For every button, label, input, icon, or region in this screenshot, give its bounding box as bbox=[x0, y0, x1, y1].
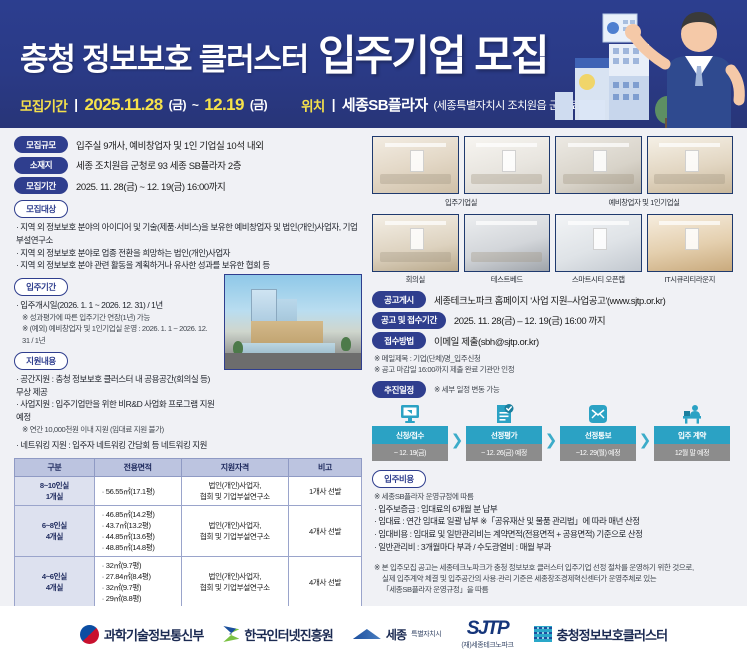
fees-line-1: · 입주보증금 : 임대료의 6개월 분 납부 bbox=[372, 503, 733, 516]
info-row-scale: 모집규모 입주실 9개사, 예비창업자 및 1인 기업실 10석 내외 bbox=[14, 136, 362, 153]
sejong-city-logo: 세종 특별자치시 bbox=[353, 626, 441, 643]
building-road bbox=[225, 353, 361, 369]
caption-startup-office: 예비창업자 및 1인기업실 bbox=[555, 197, 733, 208]
pill-notice: 공고게시 bbox=[372, 291, 426, 308]
fees-head-note: ※ 세종SB플라자 운영규정에 따름 bbox=[372, 491, 733, 502]
receipt-note-1: ※ 메일제목 : 기업(단체)명_입주신청 bbox=[372, 353, 733, 364]
flow-date-notification: ~12. 29(월) 예정 bbox=[560, 444, 636, 461]
photo-testbed bbox=[464, 214, 551, 272]
photo-window bbox=[410, 150, 424, 172]
location-name: 세종SB플라자 bbox=[342, 94, 428, 115]
info-row-apply-period: 공고 및 접수기간 2025. 11. 28(금) – 12. 19(금) 16… bbox=[372, 312, 733, 329]
cell-category: 4~6인실4개실 bbox=[15, 557, 95, 608]
target-head: 모집대상 bbox=[14, 199, 362, 218]
support-head: 지원내용 bbox=[14, 351, 216, 370]
table-header-row: 구분 전용면적 지원자격 비고 bbox=[15, 459, 362, 477]
residency-head: 입주기간 bbox=[14, 277, 216, 296]
flow-title-contract: 입주 계약 bbox=[654, 426, 730, 444]
pill-apply-period: 공고 및 접수기간 bbox=[372, 312, 446, 329]
fees-block: 입주비용 ※ 세종SB플라자 운영규정에 따름 · 입주보증금 : 임대료의 6… bbox=[372, 469, 733, 553]
flow-arrow-2: ❯ bbox=[542, 431, 560, 461]
date-start-day: (금) bbox=[169, 96, 186, 113]
table-row: 8~10인실1개실 · 56.55㎡(17.1평) 법인(개인)사업자,협회 및… bbox=[15, 477, 362, 506]
caption-it-security-lounge: IT시큐리티라운지 bbox=[647, 274, 734, 285]
cell-area: · 46.85㎡(14.2평)· 43.7㎡(13.2평)· 44.85㎡(13… bbox=[94, 506, 181, 557]
header-illustration bbox=[517, 0, 747, 128]
cell-note: 4개사 선발 bbox=[289, 506, 362, 557]
support-line-3: · 네트워킹 지원 : 입주자 네트워킹 간담회 등 네트워킹 지원 bbox=[14, 439, 216, 452]
flow-step-notification: 선정통보 ~12. 29(월) 예정 bbox=[560, 402, 636, 461]
photo-window bbox=[593, 150, 607, 172]
schedule-head: 추진일정 ※ 세부 일정 변동 가능 bbox=[372, 381, 733, 398]
caption-meeting-room: 회의실 bbox=[372, 274, 459, 285]
fees-head: 입주비용 bbox=[372, 469, 733, 488]
mist-logo-text: 과학기술정보통신부 bbox=[104, 625, 204, 644]
sub-divider-1: | bbox=[74, 97, 77, 112]
photo-grid-row-1 bbox=[372, 136, 733, 194]
cluster-logo-text: 충청정보보호클러스터 bbox=[557, 625, 668, 644]
poster-footer: 과학기술정보통신부 한국인터넷진흥원 세종 특별자치시 SJTP (재)세종테크… bbox=[0, 606, 747, 662]
th-note: 비고 bbox=[289, 459, 362, 477]
title-light: 충청 정보보호 클러스터 bbox=[20, 34, 308, 79]
info-text-apply-method: 이메일 제출(sbh@sjtp.or.kr) bbox=[434, 334, 539, 348]
photo-ceiling bbox=[476, 143, 537, 147]
photo-ceiling bbox=[385, 221, 446, 225]
th-qualification: 지원자격 bbox=[181, 459, 289, 477]
sjtp-mark-icon: SJTP bbox=[467, 618, 509, 640]
residency-support-text: 입주기간 · 입주개시일(2026. 1. 1 ~ 2026. 12. 31) … bbox=[14, 272, 216, 452]
info-row-apply-method: 접수방법 이메일 제출(sbh@sjtp.or.kr) bbox=[372, 332, 733, 349]
mail-icon bbox=[560, 402, 636, 424]
pill-target: 모집대상 bbox=[14, 200, 68, 218]
poster-root: 충청 정보보호 클러스터 입주기업 모집 모집기간 | 2025.11.28 (… bbox=[0, 0, 747, 662]
fees-line-2: · 임대료 : 연간 임대료 일괄 납부 ※「공유재산 및 물품 관리법」에 따… bbox=[372, 515, 733, 528]
table-row: 6~8인실4개실 · 46.85㎡(14.2평)· 43.7㎡(13.2평)· … bbox=[15, 506, 362, 557]
flow-date-evaluation: ~ 12. 26(금) 예정 bbox=[466, 444, 542, 461]
pill-support: 지원내용 bbox=[14, 352, 68, 370]
flow-title-apply: 신청/접수 bbox=[372, 426, 448, 444]
pill-scale: 모집규모 bbox=[14, 136, 68, 153]
process-flow: 신청/접수 ~ 12. 19(금) ❯ bbox=[372, 402, 733, 461]
disclaimer-block: ※ 본 입주모집 공고는 세종테크노파크가 충청 정보보호 클러스터 입주기업 … bbox=[372, 562, 733, 596]
target-line-2: · 지역 외 정보보호 분야로 업종 전환을 희망하는 법인(개인)사업자 bbox=[14, 247, 362, 260]
pill-period: 모집기간 bbox=[14, 177, 68, 194]
residency-block: 입주기간 · 입주개시일(2026. 1. 1 ~ 2026. 12. 31) … bbox=[14, 277, 216, 346]
th-area: 전용면적 bbox=[94, 459, 181, 477]
flow-date-contract: 12월 말 예정 bbox=[654, 444, 730, 461]
support-block: 지원내용 · 공간지원 : 충청 정보보호 클러스터 내 공용공간(회의실 등)… bbox=[14, 351, 216, 452]
taegeuk-icon bbox=[80, 625, 99, 644]
photo-desk bbox=[563, 174, 634, 184]
date-end: 12.19 bbox=[204, 95, 244, 115]
info-row-location: 소재지 세종 조치원읍 군청로 93 세종 SB플라자 2층 bbox=[14, 157, 362, 174]
info-text-scale: 입주실 9개사, 예비창업자 및 1인 기업실 10석 내외 bbox=[76, 138, 264, 152]
sejong-wing-icon bbox=[353, 629, 381, 639]
flow-step-evaluation: 선정평가 ~ 12. 26(금) 예정 bbox=[466, 402, 542, 461]
photo-smartcity-openlab bbox=[555, 214, 642, 272]
flow-arrow-1: ❯ bbox=[448, 431, 466, 461]
table-row: 4~6인실4개실 · 32㎡(9.7평)· 27.84㎡(8.4평)· 32㎡(… bbox=[15, 557, 362, 608]
desk-person-icon bbox=[654, 402, 730, 424]
photo-meeting-room bbox=[372, 214, 459, 272]
poster-header: 충청 정보보호 클러스터 입주기업 모집 모집기간 | 2025.11.28 (… bbox=[0, 0, 747, 128]
disclaimer-line-3: 「세종SB플라자 운영규정」을 따름 bbox=[372, 584, 733, 595]
photo-grid-row-2 bbox=[372, 214, 733, 272]
schedule-note: ※ 세부 일정 변동 가능 bbox=[434, 384, 500, 395]
kisa-logo: 한국인터넷진흥원 bbox=[223, 625, 332, 644]
cell-qualification: 법인(개인)사업자,협회 및 기업부설연구소 bbox=[181, 557, 289, 608]
photo-ceiling bbox=[659, 143, 720, 147]
support-note-1: ※ 연간 10,000천원 이내 지원 (임대료 지원 불가) bbox=[14, 424, 216, 435]
photo-tenant-office-1 bbox=[372, 136, 459, 194]
pill-location: 소재지 bbox=[14, 157, 68, 174]
flow-title-evaluation: 선정평가 bbox=[466, 426, 542, 444]
residency-support-wrapper: 입주기간 · 입주개시일(2026. 1. 1 ~ 2026. 12. 31) … bbox=[14, 272, 362, 452]
photo-tenant-office-2 bbox=[464, 136, 551, 194]
kisa-logo-text: 한국인터넷진흥원 bbox=[244, 625, 332, 644]
photo-desk bbox=[380, 174, 451, 184]
receipt-note-2: ※ 공고 마감일 16:00까지 제출 완료 기관만 인정 bbox=[372, 364, 733, 375]
photo-it-security-lounge bbox=[647, 214, 734, 272]
building-illustration bbox=[555, 14, 679, 128]
date-start: 2025.11.28 bbox=[84, 95, 162, 115]
date-end-day: (금) bbox=[250, 96, 267, 113]
photo-window bbox=[593, 228, 607, 250]
pill-fees: 입주비용 bbox=[372, 470, 426, 488]
pill-residency: 입주기간 bbox=[14, 278, 68, 296]
photo-window bbox=[410, 228, 424, 250]
disclaimer-line-1: ※ 본 입주모집 공고는 세종테크노파크가 충청 정보보호 클러스터 입주기업 … bbox=[372, 562, 733, 573]
sub-divider-2: | bbox=[332, 97, 335, 112]
photo-desk bbox=[471, 252, 542, 262]
caption-testbed: 테스트베드 bbox=[464, 274, 551, 285]
photo-desk bbox=[654, 174, 725, 184]
building-tree-right bbox=[341, 337, 351, 351]
cell-area: · 32㎡(9.7평)· 27.84㎡(8.4평)· 32㎡(9.7평)· 29… bbox=[94, 557, 181, 608]
residency-note-2: ※ (예외) 예비창업자 및 1인기업실 운영 : 2026. 1. 1 ~ 2… bbox=[14, 323, 216, 346]
photo-ceiling bbox=[568, 221, 629, 225]
sejong-logo-sub: 특별자치시 bbox=[411, 629, 441, 639]
fees-line-3: · 임대비용 : 임대료 및 일반관리비는 계약면적(전용면적 + 공용면적) … bbox=[372, 528, 733, 541]
caption-smartcity-openlab: 스마트시티 오픈랩 bbox=[555, 274, 642, 285]
sejong-logo-text: 세종 bbox=[386, 626, 406, 643]
cell-category: 6~8인실4개실 bbox=[15, 506, 95, 557]
support-line-1: · 공간지원 : 충청 정보보호 클러스터 내 공용공간(회의실 등) 무상 제… bbox=[14, 373, 216, 399]
photo-window bbox=[685, 228, 699, 250]
flow-step-apply: 신청/접수 ~ 12. 19(금) bbox=[372, 402, 448, 461]
fees-line-4: · 일반관리비 : 3개월마다 부과 / 수도광열비 : 매월 부과 bbox=[372, 541, 733, 554]
document-check-icon bbox=[466, 402, 542, 424]
flow-arrow-3: ❯ bbox=[636, 431, 654, 461]
location-label: 위치 bbox=[301, 95, 325, 115]
support-line-2: · 사업지원 : 입주기업만을 위한 비R&D 사업화 프로그램 지원 예정 bbox=[14, 398, 216, 424]
photo-ceiling bbox=[568, 143, 629, 147]
cell-note: 4개사 선발 bbox=[289, 557, 362, 608]
info-text-location: 세종 조치원읍 군청로 93 세종 SB플라자 2층 bbox=[76, 158, 241, 172]
cell-category: 8~10인실1개실 bbox=[15, 477, 95, 506]
sjtp-logo-sub: (재)세종테크노파크 bbox=[461, 640, 513, 650]
residency-note-1: ※ 성과평가에 따른 입주기간 연장(1년) 가능 bbox=[14, 312, 216, 323]
photo-ceiling bbox=[659, 221, 720, 225]
flow-title-notification: 선정통보 bbox=[560, 426, 636, 444]
target-block: 모집대상 · 지역 외 정보보호 분야의 아이디어 및 기술(제품·서비스)을 … bbox=[14, 199, 362, 272]
cell-note: 1개사 선발 bbox=[289, 477, 362, 506]
title-strong: 입주기업 모집 bbox=[318, 22, 548, 83]
sjtp-logo: SJTP (재)세종테크노파크 bbox=[461, 618, 513, 650]
kisa-mark-icon bbox=[223, 626, 239, 642]
residency-line-1: · 입주개시일(2026. 1. 1 ~ 2026. 12. 31) / 1년 bbox=[14, 299, 216, 312]
flow-step-contract: 입주 계약 12월 말 예정 bbox=[654, 402, 730, 461]
cluster-mark-icon bbox=[534, 626, 552, 642]
pill-apply-method: 접수방법 bbox=[372, 332, 426, 349]
info-row-period: 모집기간 2025. 11. 28(금) ~ 12. 19(금) 16:00까지 bbox=[14, 177, 362, 194]
disclaimer-line-2: 실제 입주계약 체결 및 입주공간의 사용·관리 기준은 세종창조경제혁신센터가… bbox=[372, 573, 733, 584]
info-text-notice: 세종테크노파크 홈페이지 '사업 지원–사업공고'(www.sjtp.or.kr… bbox=[434, 293, 665, 307]
mist-logo: 과학기술정보통신부 bbox=[80, 625, 204, 644]
target-line-1: · 지역 외 정보보호 분야의 아이디어 및 기술(제품·서비스)을 보유한 예… bbox=[14, 221, 362, 247]
photo-ceiling bbox=[476, 221, 537, 225]
cell-qualification: 법인(개인)사업자,협회 및 기업부설연구소 bbox=[181, 506, 289, 557]
tilde: ~ bbox=[192, 98, 198, 112]
info-text-period: 2025. 11. 28(금) ~ 12. 19(금) 16:00까지 bbox=[76, 179, 225, 193]
poster-body: 모집규모 입주실 9개사, 예비창업자 및 1인 기업실 10석 내외 소재지 … bbox=[0, 128, 747, 606]
cell-area: · 56.55㎡(17.1평) bbox=[94, 477, 181, 506]
photo-window bbox=[502, 150, 516, 172]
photo-desk bbox=[471, 174, 542, 184]
building-photo bbox=[224, 274, 362, 370]
left-column: 모집규모 입주실 9개사, 예비창업자 및 1인 기업실 10석 내외 소재지 … bbox=[14, 136, 362, 606]
header-subtitle: 모집기간 | 2025.11.28 (금) ~ 12.19 (금) 위치 | 세… bbox=[20, 94, 593, 115]
th-category: 구분 bbox=[15, 459, 95, 477]
cluster-logo: 충청정보보호클러스터 bbox=[534, 625, 668, 644]
photo-desk bbox=[380, 252, 451, 262]
period-label: 모집기간 bbox=[20, 95, 67, 115]
info-row-notice: 공고게시 세종테크노파크 홈페이지 '사업 지원–사업공고'(www.sjtp.… bbox=[372, 291, 733, 308]
info-text-apply-period: 2025. 11. 28(금) – 12. 19(금) 16:00 까지 bbox=[454, 313, 605, 327]
photo-ceiling bbox=[385, 143, 446, 147]
monitor-icon bbox=[372, 402, 448, 424]
photo-captions-row-1: 입주기업실 예비창업자 및 1인기업실 bbox=[372, 197, 733, 208]
cell-qualification: 법인(개인)사업자,협회 및 기업부설연구소 bbox=[181, 477, 289, 506]
right-column: 입주기업실 예비창업자 및 1인기업실 bbox=[372, 136, 733, 606]
target-line-3: · 지역 외 정보보호 분야 관련 활동을 계획하거나 유사한 성과를 보유한 … bbox=[14, 259, 362, 272]
page-title: 충청 정보보호 클러스터 입주기업 모집 bbox=[20, 22, 548, 83]
photo-startup-office-2 bbox=[647, 136, 734, 194]
photo-captions-row-2: 회의실 테스트베드 스마트시티 오픈랩 IT시큐리티라운지 bbox=[372, 274, 733, 285]
photo-window bbox=[685, 150, 699, 172]
pill-schedule: 추진일정 bbox=[372, 381, 426, 398]
photo-startup-office-1 bbox=[555, 136, 642, 194]
flow-date-apply: ~ 12. 19(금) bbox=[372, 444, 448, 461]
caption-tenant-office: 입주기업실 bbox=[372, 197, 550, 208]
